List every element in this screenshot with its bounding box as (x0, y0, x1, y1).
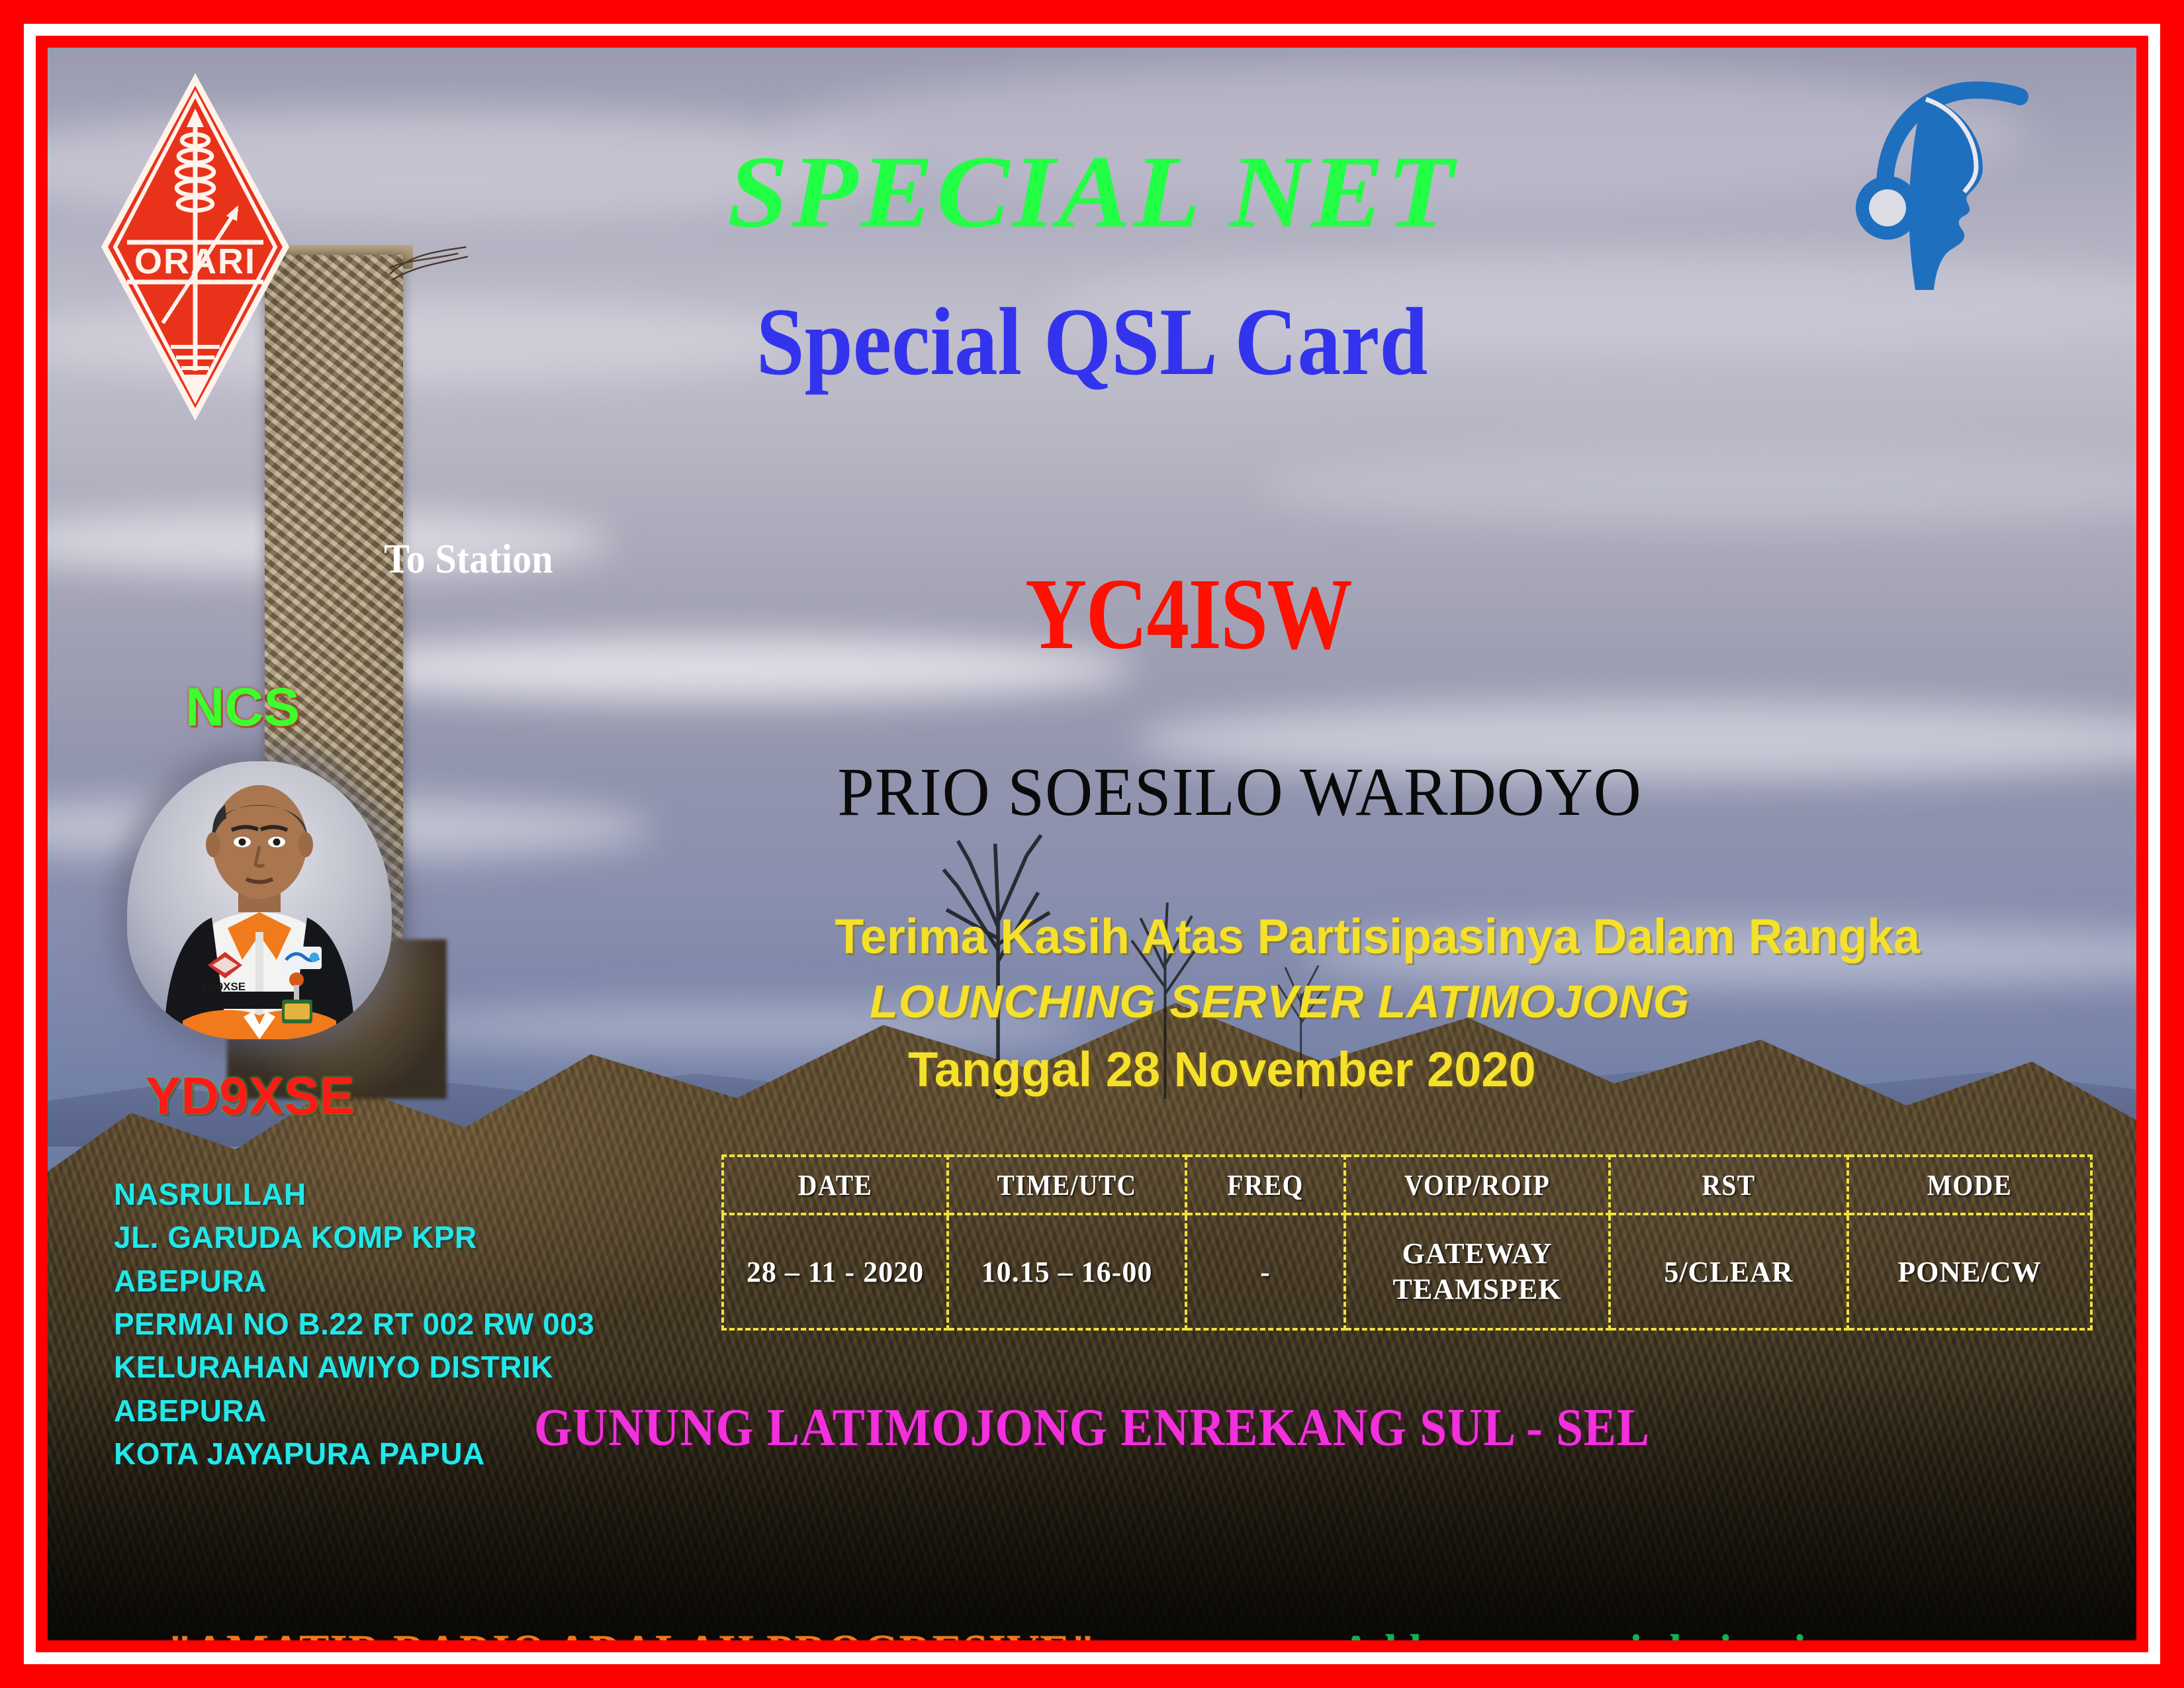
page-title: SPECIAL NET (48, 132, 2136, 252)
operator-name: PRIO SOESILO WARDOYO (837, 753, 1642, 831)
event-block: Terima Kasih Atas Partisipasinya Dalam R… (815, 908, 2113, 1098)
address-line: KELURAHAN AWIYO DISTRIK (114, 1346, 594, 1389)
table-header-rst: RST (1621, 1156, 1836, 1214)
footer-address: Address : amatir.latimojong.com (1340, 1624, 1966, 1640)
location-line: GUNUNG LATIMOJONG ENREKANG SUL - SEL (131, 1398, 2053, 1458)
cell-voip-roip-line1: GATEWAY (1402, 1237, 1552, 1270)
cell-mode: PONE/CW (1848, 1214, 2091, 1329)
qsl-card: ORARI (0, 0, 2184, 1688)
card-photo-area: ORARI (48, 48, 2136, 1640)
table-header-time: TIME/UTC (960, 1156, 1174, 1214)
ncs-label: NCS (185, 677, 300, 739)
cell-voip-roip: GATEWAY TEAMSPEK (1345, 1214, 1610, 1329)
event-thanks-line: Terima Kasih Atas Partisipasinya Dalam R… (835, 908, 2093, 964)
event-date-line: Tanggal 28 November 2020 (908, 1041, 2113, 1098)
station-callsign: YC4ISW (1025, 556, 1351, 673)
cloud-band (298, 637, 1134, 700)
to-station-label: To Station (384, 536, 553, 583)
address-line: NASRULLAH (114, 1173, 594, 1216)
cell-freq: - (1186, 1214, 1345, 1329)
event-name-line: LOUNCHING SERVER LATIMOJONG (870, 975, 2113, 1028)
cell-voip-roip-line2: TEAMSPEK (1393, 1273, 1562, 1305)
footer-slogan: "AMATIR RADIO ADALAH PROGRESIVE" (167, 1624, 1096, 1640)
table-header-date: DATE (734, 1156, 936, 1214)
table-header-mode: MODE (1860, 1156, 2079, 1214)
address-line: PERMAI NO B.22 RT 002 RW 003 (114, 1303, 594, 1346)
table-row: 28 – 11 - 2020 10.15 – 16-00 - GATEWAY T… (723, 1214, 2091, 1329)
table-header-row: DATE TIME/UTC FREQ VOIP/ROIP RST MODE (723, 1156, 2091, 1214)
cell-date: 28 – 11 - 2020 (723, 1214, 948, 1329)
address-line: ABEPURA (114, 1260, 594, 1303)
table-header-voip-roip: VOIP/ROIP (1358, 1156, 1596, 1214)
table-header-freq: FREQ (1194, 1156, 1337, 1214)
page-subtitle: Special QSL Card (152, 286, 2032, 397)
address-line: JL. GARUDA KOMP KPR (114, 1216, 594, 1259)
qso-table: DATE TIME/UTC FREQ VOIP/ROIP RST MODE 28… (721, 1154, 2093, 1331)
cell-rst: 5/CLEAR (1610, 1214, 1848, 1329)
ncs-callsign: YD9XSE (146, 1066, 355, 1127)
cell-time: 10.15 – 16-00 (948, 1214, 1186, 1329)
uniform-callsign-text: YD9XSE (201, 980, 246, 993)
